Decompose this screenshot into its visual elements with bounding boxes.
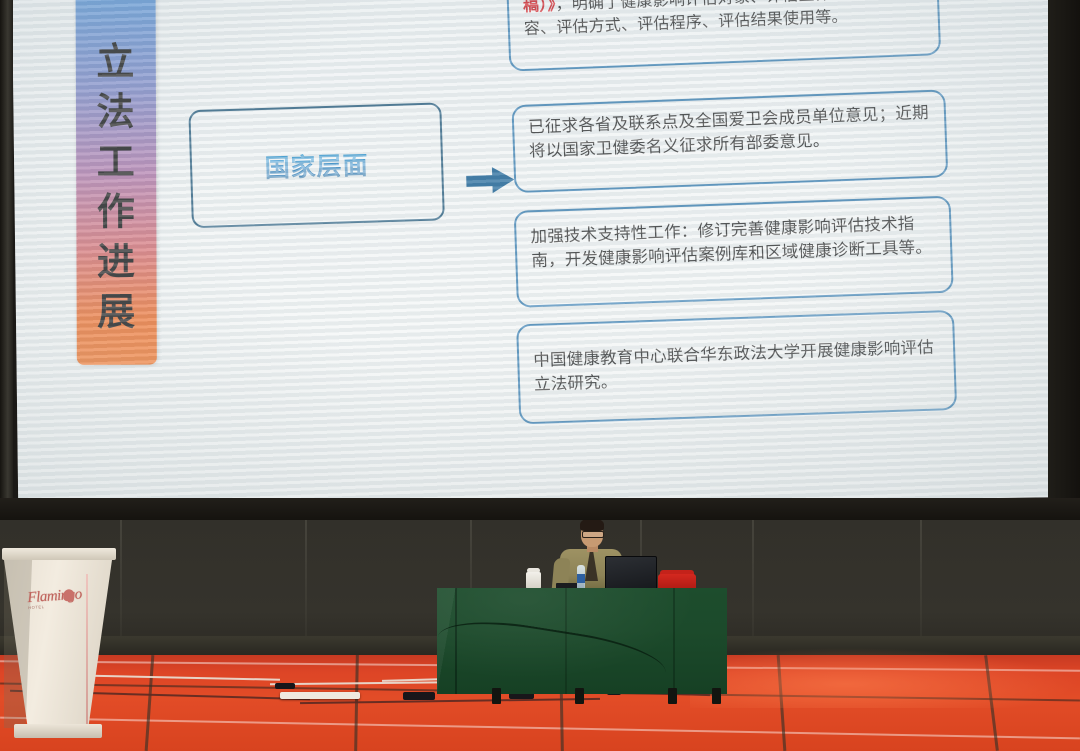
table-leg <box>668 688 677 704</box>
table-leg <box>712 688 721 704</box>
projection-screen: 立 法 工 作 进 展 国家层面 形成了健康影响评估《健康影响评估条例 <box>12 0 1056 510</box>
projection-screen-frame: 立 法 工 作 进 展 国家层面 形成了健康影响评估《健康影响评估条例 <box>0 0 1080 518</box>
laptop-screen <box>605 556 657 592</box>
slide-item-text: 已征求各省及联系点及全国爱卫会成员单位意见；近期将以国家卫健委名义征求所有部委意… <box>528 101 931 164</box>
sidebar-char-2: 法 <box>96 87 135 137</box>
item1-after: ，明确了健康影响评估对象、评估主体、评估内容、评估方式、评估程序、评估结果使用等… <box>524 0 896 38</box>
category-box-national-level: 国家层面 <box>188 102 445 228</box>
power-strip <box>280 692 360 699</box>
slide-sidebar-title: 立 法 工 作 进 展 <box>76 0 157 365</box>
slide-content: 立 法 工 作 进 展 国家层面 形成了健康影响评估《健康影响评估条例 <box>12 0 1056 510</box>
water-bottle-label <box>577 574 585 583</box>
sidebar-char-6: 展 <box>97 287 136 337</box>
floor-light-glow <box>690 648 1080 708</box>
lectern-logo: Flamingo HOTEL <box>27 588 91 620</box>
sidebar-char-5: 进 <box>97 237 136 287</box>
lectern-top <box>2 548 116 560</box>
glasses-icon <box>582 531 604 538</box>
slide-item-technical-support: 加强技术支持性工作：修订完善健康影响评估技术指南，开发健康影响评估案例库和区域健… <box>514 196 954 308</box>
slide-item-legislation-research: 中国健康教育中心联合华东政法大学开展健康影响评估立法研究。 <box>516 310 957 424</box>
screen-bottom-bezel <box>0 498 1080 520</box>
screenshot-root: Flamingo HOTEL <box>0 0 1080 751</box>
slide-item-text: 加强技术支持性工作：修订完善健康影响评估技术指南，开发健康影响评估案例库和区域健… <box>530 207 937 273</box>
sidebar-char-4: 作 <box>97 187 136 237</box>
sidebar-char-3: 工 <box>97 137 136 187</box>
screen-left-bezel <box>0 0 13 512</box>
category-box-label: 国家层面 <box>264 146 369 185</box>
slide-item-opinion-solicitation: 已征求各省及联系点及全国爱卫会成员单位意见；近期将以国家卫健委名义征求所有部委意… <box>511 89 948 193</box>
floor-adapter <box>403 692 435 700</box>
floor-adapter <box>275 683 295 689</box>
table-leg <box>492 688 501 704</box>
slide-item-text: 形成了健康影响评估《健康影响评估条例（征求意见稿）》，明确了健康影响评估对象、评… <box>522 0 924 40</box>
lectern: Flamingo HOTEL <box>0 548 118 748</box>
sidebar-char-1: 立 <box>96 37 135 87</box>
right-arrow-icon <box>466 166 515 193</box>
screen-right-bezel <box>1048 0 1080 512</box>
slide-item-text: 中国健康教育中心联合华东政法大学开展健康影响评估立法研究。 <box>532 321 940 396</box>
slide-item-regulation-draft: 形成了健康影响评估《健康影响评估条例（征求意见稿）》，明确了健康影响评估对象、评… <box>505 0 941 72</box>
flamingo-icon <box>63 589 75 602</box>
table-leg <box>575 688 584 704</box>
lectern-base <box>14 724 102 738</box>
